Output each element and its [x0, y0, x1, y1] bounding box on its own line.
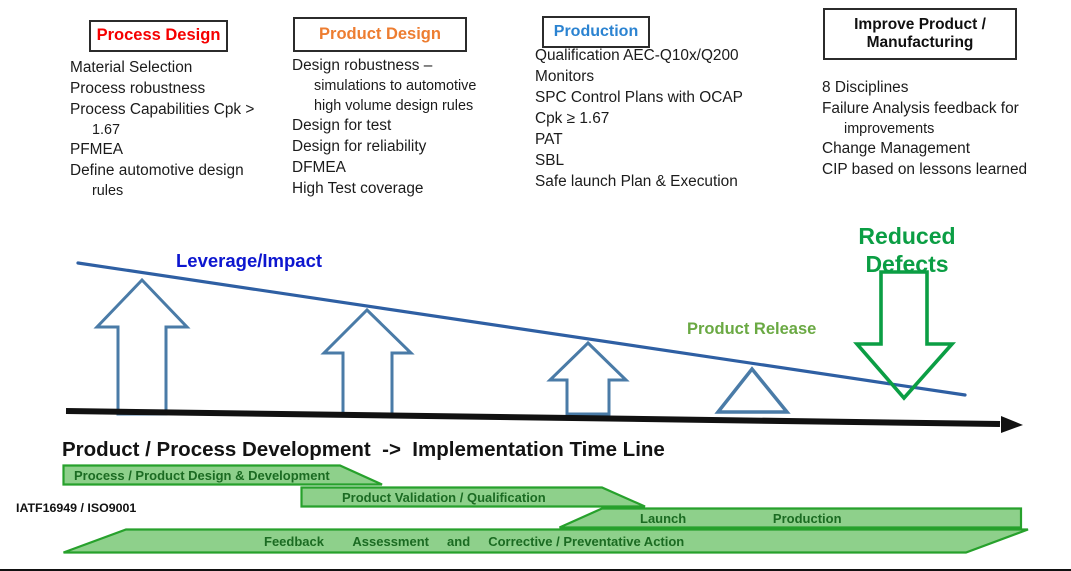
list-item: Monitors — [535, 67, 800, 88]
heading-label-process-design: Process Design — [97, 26, 221, 45]
heading-box-product-design: Product Design — [293, 17, 467, 52]
list-item: Design robustness – — [292, 56, 502, 77]
list-process-design: Material SelectionProcess robustnessProc… — [70, 58, 285, 202]
list-item: Design for test — [292, 116, 502, 137]
list-item: Process robustness — [70, 79, 285, 100]
list-item: PFMEA — [70, 140, 285, 161]
list-item: Failure Analysis feedback for — [822, 99, 1057, 120]
timeline-bar-label: Launch Production — [640, 511, 842, 526]
list-item: Qualification AEC-Q10x/Q200 — [535, 46, 800, 67]
slide-canvas: Process Design Product Design Production… — [0, 0, 1071, 571]
list-item: high volume design rules — [292, 97, 502, 117]
timeline-bar-feedback-capa: Feedback Assessment and Corrective / Pre… — [62, 528, 1030, 554]
timeline-bar-label: Feedback Assessment and Corrective / Pre… — [264, 534, 684, 549]
list-item: Process Capabilities Cpk > — [70, 100, 285, 121]
list-item: 8 Disciplines — [822, 78, 1057, 99]
heading-box-production: Production — [542, 16, 650, 48]
list-improve-product: 8 DisciplinesFailure Analysis feedback f… — [822, 78, 1057, 181]
list-item: High Test coverage — [292, 179, 502, 200]
list-item: Cpk ≥ 1.67 — [535, 109, 800, 130]
list-item: Change Management — [822, 139, 1057, 160]
heading-label-production: Production — [554, 23, 638, 42]
heading-label-product-design: Product Design — [319, 25, 441, 44]
timeline-bar-design-development: Process / Product Design & Development — [62, 464, 384, 486]
timeline-baseline-arrow — [66, 411, 1023, 433]
list-item: Material Selection — [70, 58, 285, 79]
heading-box-process-design: Process Design — [89, 20, 228, 52]
timeline-bar-label: Product Validation / Qualification — [342, 490, 546, 505]
label-product-release: Product Release — [687, 320, 816, 339]
list-item: improvements — [822, 120, 1057, 140]
up-arrow-stage-1 — [97, 280, 187, 414]
list-item: CIP based on lessons learned — [822, 160, 1057, 181]
list-item: SBL — [535, 151, 800, 172]
list-item: 1.67 — [70, 121, 285, 141]
leverage-trend-line — [78, 263, 965, 395]
timeline-bar-label: Process / Product Design & Development — [74, 468, 330, 483]
timeline-bar-product-validation: Product Validation / Qualification — [300, 486, 647, 508]
list-item: Define automotive design — [70, 161, 285, 182]
triangle-stage-4 — [718, 369, 787, 412]
list-production: Qualification AEC-Q10x/Q200MonitorsSPC C… — [535, 46, 800, 193]
list-item: PAT — [535, 130, 800, 151]
timeline-title: Product / Process Development -> Impleme… — [62, 438, 665, 462]
heading-label-improve-product-manufacturing: Improve Product /Manufacturing — [854, 16, 986, 53]
list-item: Design for reliability — [292, 137, 502, 158]
standards-note: IATF16949 / ISO9001 — [16, 501, 136, 515]
reduced-defects-down-arrow — [857, 272, 952, 398]
up-arrow-stage-3 — [550, 343, 626, 414]
list-product-design: Design robustness –simulations to automo… — [292, 56, 502, 200]
list-item: SPC Control Plans with OCAP — [535, 88, 800, 109]
list-item: rules — [70, 182, 285, 202]
label-reduced-defects: ReducedDefects — [843, 222, 971, 278]
list-item: DFMEA — [292, 158, 502, 179]
heading-box-improve-product-manufacturing: Improve Product /Manufacturing — [823, 8, 1017, 60]
list-item: Safe launch Plan & Execution — [535, 172, 800, 193]
label-leverage-impact: Leverage/Impact — [176, 250, 322, 272]
timeline-bar-launch-production: Launch Production — [558, 507, 1023, 529]
list-item: simulations to automotive — [292, 77, 502, 97]
up-arrow-stage-2 — [324, 310, 411, 414]
